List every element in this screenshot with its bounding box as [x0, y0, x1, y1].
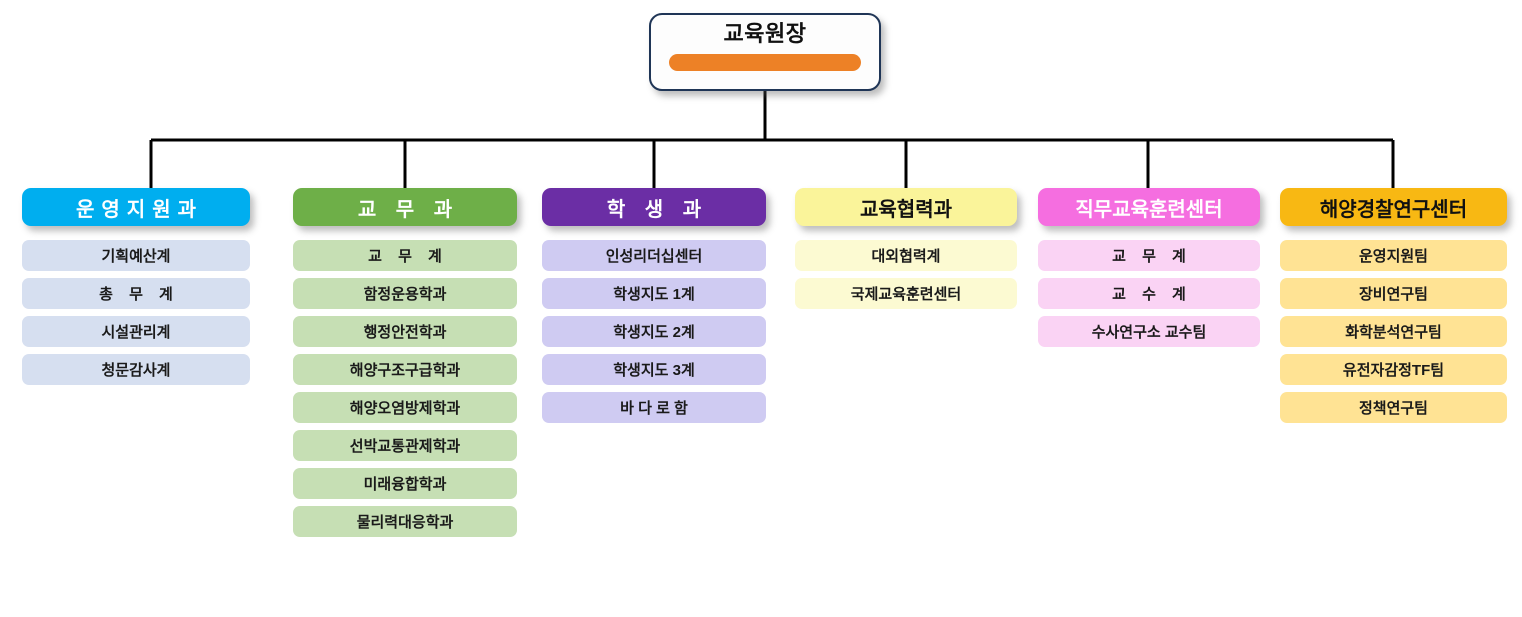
- department-item[interactable]: 화학분석연구팀: [1280, 316, 1507, 347]
- org-chart: 교육원장 운영지원과기획예산계총 무 계시설관리계청문감사계교 무 과교 무 계…: [0, 0, 1522, 617]
- department-column-coast-guard-research-center: 해양경찰연구센터운영지원팀장비연구팀화학분석연구팀유전자감정TF팀정책연구팀: [1280, 188, 1507, 423]
- department-header-job-training-center[interactable]: 직무교육훈련센터: [1038, 188, 1260, 226]
- department-children-student-affairs: 인성리더십센터학생지도 1계학생지도 2계학생지도 3계바 다 로 함: [542, 240, 766, 423]
- department-column-job-training-center: 직무교육훈련센터교 무 계교 수 계수사연구소 교수팀: [1038, 188, 1260, 347]
- department-item[interactable]: 물리력대응학과: [293, 506, 517, 537]
- department-children-job-training-center: 교 무 계교 수 계수사연구소 교수팀: [1038, 240, 1260, 347]
- department-item[interactable]: 운영지원팀: [1280, 240, 1507, 271]
- department-item[interactable]: 학생지도 1계: [542, 278, 766, 309]
- department-item[interactable]: 대외협력계: [795, 240, 1017, 271]
- department-column-education-cooperation: 교육협력과대외협력계국제교육훈련센터: [795, 188, 1017, 309]
- department-children-operations-support: 기획예산계총 무 계시설관리계청문감사계: [22, 240, 250, 385]
- department-item[interactable]: 정책연구팀: [1280, 392, 1507, 423]
- department-item[interactable]: 총 무 계: [22, 278, 250, 309]
- department-children-coast-guard-research-center: 운영지원팀장비연구팀화학분석연구팀유전자감정TF팀정책연구팀: [1280, 240, 1507, 423]
- department-item[interactable]: 선박교통관제학과: [293, 430, 517, 461]
- department-item[interactable]: 교 무 계: [293, 240, 517, 271]
- department-item[interactable]: 해양구조구급학과: [293, 354, 517, 385]
- department-header-student-affairs[interactable]: 학 생 과: [542, 188, 766, 226]
- department-header-academic-affairs[interactable]: 교 무 과: [293, 188, 517, 226]
- department-item[interactable]: 교 수 계: [1038, 278, 1260, 309]
- department-item[interactable]: 시설관리계: [22, 316, 250, 347]
- department-item[interactable]: 해양오염방제학과: [293, 392, 517, 423]
- department-item[interactable]: 수사연구소 교수팀: [1038, 316, 1260, 347]
- department-item[interactable]: 교 무 계: [1038, 240, 1260, 271]
- root-accent-bar: [669, 54, 861, 71]
- department-item[interactable]: 국제교육훈련센터: [795, 278, 1017, 309]
- department-item[interactable]: 청문감사계: [22, 354, 250, 385]
- department-item[interactable]: 장비연구팀: [1280, 278, 1507, 309]
- department-header-operations-support[interactable]: 운영지원과: [22, 188, 250, 226]
- department-column-operations-support: 운영지원과기획예산계총 무 계시설관리계청문감사계: [22, 188, 250, 385]
- department-item[interactable]: 바 다 로 함: [542, 392, 766, 423]
- department-header-coast-guard-research-center[interactable]: 해양경찰연구센터: [1280, 188, 1507, 226]
- department-item[interactable]: 함정운용학과: [293, 278, 517, 309]
- department-item[interactable]: 학생지도 3계: [542, 354, 766, 385]
- department-column-academic-affairs: 교 무 과교 무 계함정운용학과행정안전학과해양구조구급학과해양오염방제학과선박…: [293, 188, 517, 537]
- department-header-education-cooperation[interactable]: 교육협력과: [795, 188, 1017, 226]
- department-item[interactable]: 미래융합학과: [293, 468, 517, 499]
- department-column-student-affairs: 학 생 과인성리더십센터학생지도 1계학생지도 2계학생지도 3계바 다 로 함: [542, 188, 766, 423]
- root-node-label: 교육원장: [724, 21, 807, 47]
- department-item[interactable]: 유전자감정TF팀: [1280, 354, 1507, 385]
- department-children-academic-affairs: 교 무 계함정운용학과행정안전학과해양구조구급학과해양오염방제학과선박교통관제학…: [293, 240, 517, 537]
- root-node-director[interactable]: 교육원장: [649, 13, 881, 91]
- department-item[interactable]: 학생지도 2계: [542, 316, 766, 347]
- department-children-education-cooperation: 대외협력계국제교육훈련센터: [795, 240, 1017, 309]
- department-item[interactable]: 행정안전학과: [293, 316, 517, 347]
- department-item[interactable]: 인성리더십센터: [542, 240, 766, 271]
- department-item[interactable]: 기획예산계: [22, 240, 250, 271]
